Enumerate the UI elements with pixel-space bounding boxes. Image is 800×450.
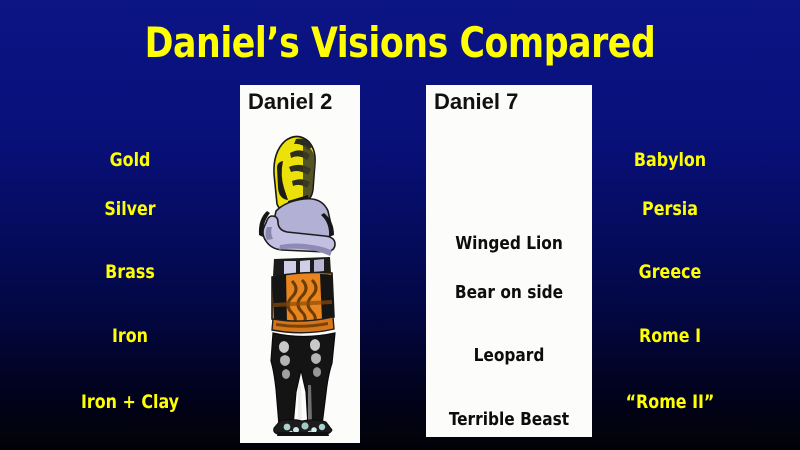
metals-item-3: Iron [37, 325, 223, 347]
empires-item-0: Babylon [577, 149, 763, 171]
daniel-7-item-1: Bear on side [430, 282, 588, 303]
empires-item-2: Greece [577, 261, 763, 283]
slide-canvas: Daniel’s Visions Compared Gold Silver Br… [0, 0, 800, 450]
daniel-7-item-3: Terrible Beast [430, 409, 588, 430]
metals-item-1: Silver [37, 198, 223, 220]
daniel-2-panel: Daniel 2 [240, 85, 360, 443]
daniel-7-item-2: Leopard [430, 345, 588, 366]
metals-column: Gold Silver Brass Iron Iron + Clay [30, 0, 230, 450]
page-title: Daniel’s Visions Compared [32, 20, 768, 66]
empires-item-3: Rome I [577, 325, 763, 347]
daniel-7-heading: Daniel 7 [434, 89, 518, 115]
daniel-2-heading: Daniel 2 [248, 89, 332, 115]
empires-item-1: Persia [577, 198, 763, 220]
daniel-7-panel: Daniel 7 Winged Lion Bear on side Leopar… [426, 85, 592, 437]
metals-item-4: Iron + Clay [37, 391, 223, 413]
daniel-2-statue-image [240, 127, 360, 439]
empires-item-4: “Rome II” [577, 391, 763, 413]
metals-item-2: Brass [37, 261, 223, 283]
metals-item-0: Gold [37, 149, 223, 171]
empires-column: Babylon Persia Greece Rome I “Rome II” [570, 0, 770, 450]
daniel-7-item-0: Winged Lion [430, 233, 588, 254]
